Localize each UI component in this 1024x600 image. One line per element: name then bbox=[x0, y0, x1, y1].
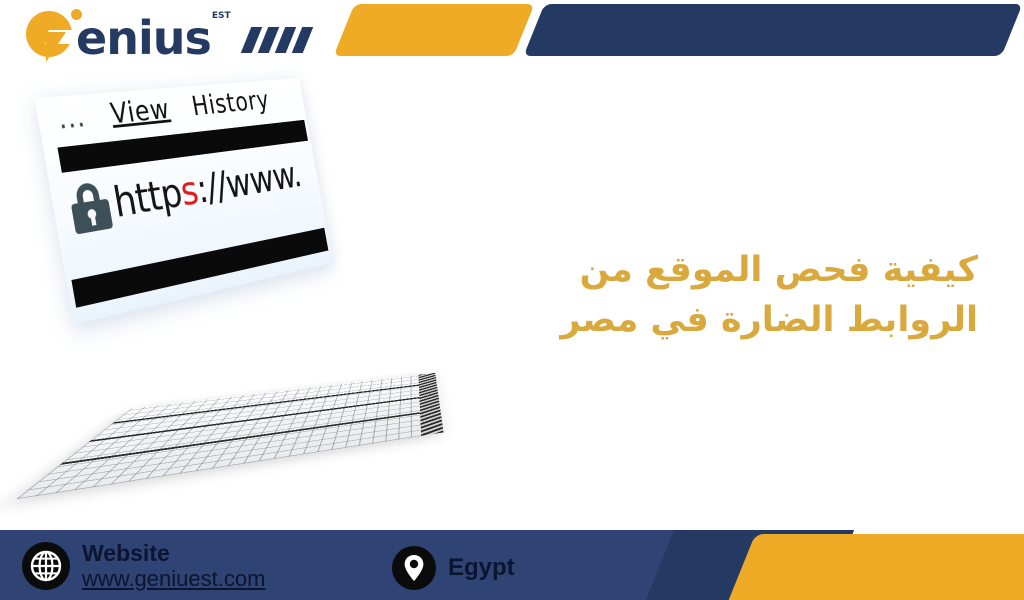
header-bar: eniusEST bbox=[0, 0, 1024, 78]
logo-superscript: EST bbox=[212, 11, 231, 21]
padlock-icon bbox=[68, 181, 114, 235]
page-title: كيفية فحص الموقع من الروابط الضارة في مص… bbox=[478, 246, 978, 345]
logo-wordmark: eniusEST bbox=[76, 15, 230, 61]
keyboard-icon bbox=[16, 373, 439, 499]
browser-menu-history: History bbox=[190, 86, 272, 123]
footer-website-block[interactable]: Website www.geniuest.com bbox=[22, 541, 265, 591]
brand-logo[interactable]: eniusEST bbox=[26, 8, 308, 64]
url-prefix: http bbox=[110, 170, 185, 228]
page-title-line-1: كيفية فحص الموقع من bbox=[478, 246, 978, 296]
footer-bar: Website www.geniuest.com Egypt bbox=[0, 530, 1024, 600]
browser-window-perspective: ... View History https://www. bbox=[35, 78, 334, 325]
browser-menu-view: View bbox=[108, 94, 172, 131]
header-orange-shape bbox=[333, 4, 534, 56]
footer-location-label: Egypt bbox=[448, 554, 515, 582]
hero-illustration: ... View History https://www. bbox=[30, 86, 460, 486]
page-title-line-2: الروابط الضارة في مصر bbox=[478, 296, 978, 346]
address-bar-url: https://www. bbox=[110, 156, 303, 224]
footer-website-text: Website www.geniuest.com bbox=[82, 541, 265, 591]
logo-wordmark-text: enius bbox=[76, 11, 211, 65]
map-pin-icon bbox=[392, 546, 436, 590]
logo-slashes-icon bbox=[246, 27, 308, 53]
poster-canvas: eniusEST ... View History bbox=[0, 0, 1024, 600]
footer-website-url[interactable]: www.geniuest.com bbox=[82, 567, 265, 592]
main-content: ... View History https://www. bbox=[0, 78, 1024, 530]
browser-bottom-dark-band bbox=[71, 228, 328, 308]
header-navy-shape-cap bbox=[600, 4, 1010, 56]
footer-location-block[interactable]: Egypt bbox=[392, 546, 515, 590]
footer-website-label: Website bbox=[82, 541, 265, 567]
logo-g-mark-icon bbox=[26, 9, 80, 63]
browser-menu-prefix: ... bbox=[55, 100, 88, 136]
globe-icon bbox=[22, 542, 70, 590]
footer-orange-shape-cap bbox=[830, 534, 1024, 600]
url-suffix: ://www. bbox=[193, 153, 304, 213]
